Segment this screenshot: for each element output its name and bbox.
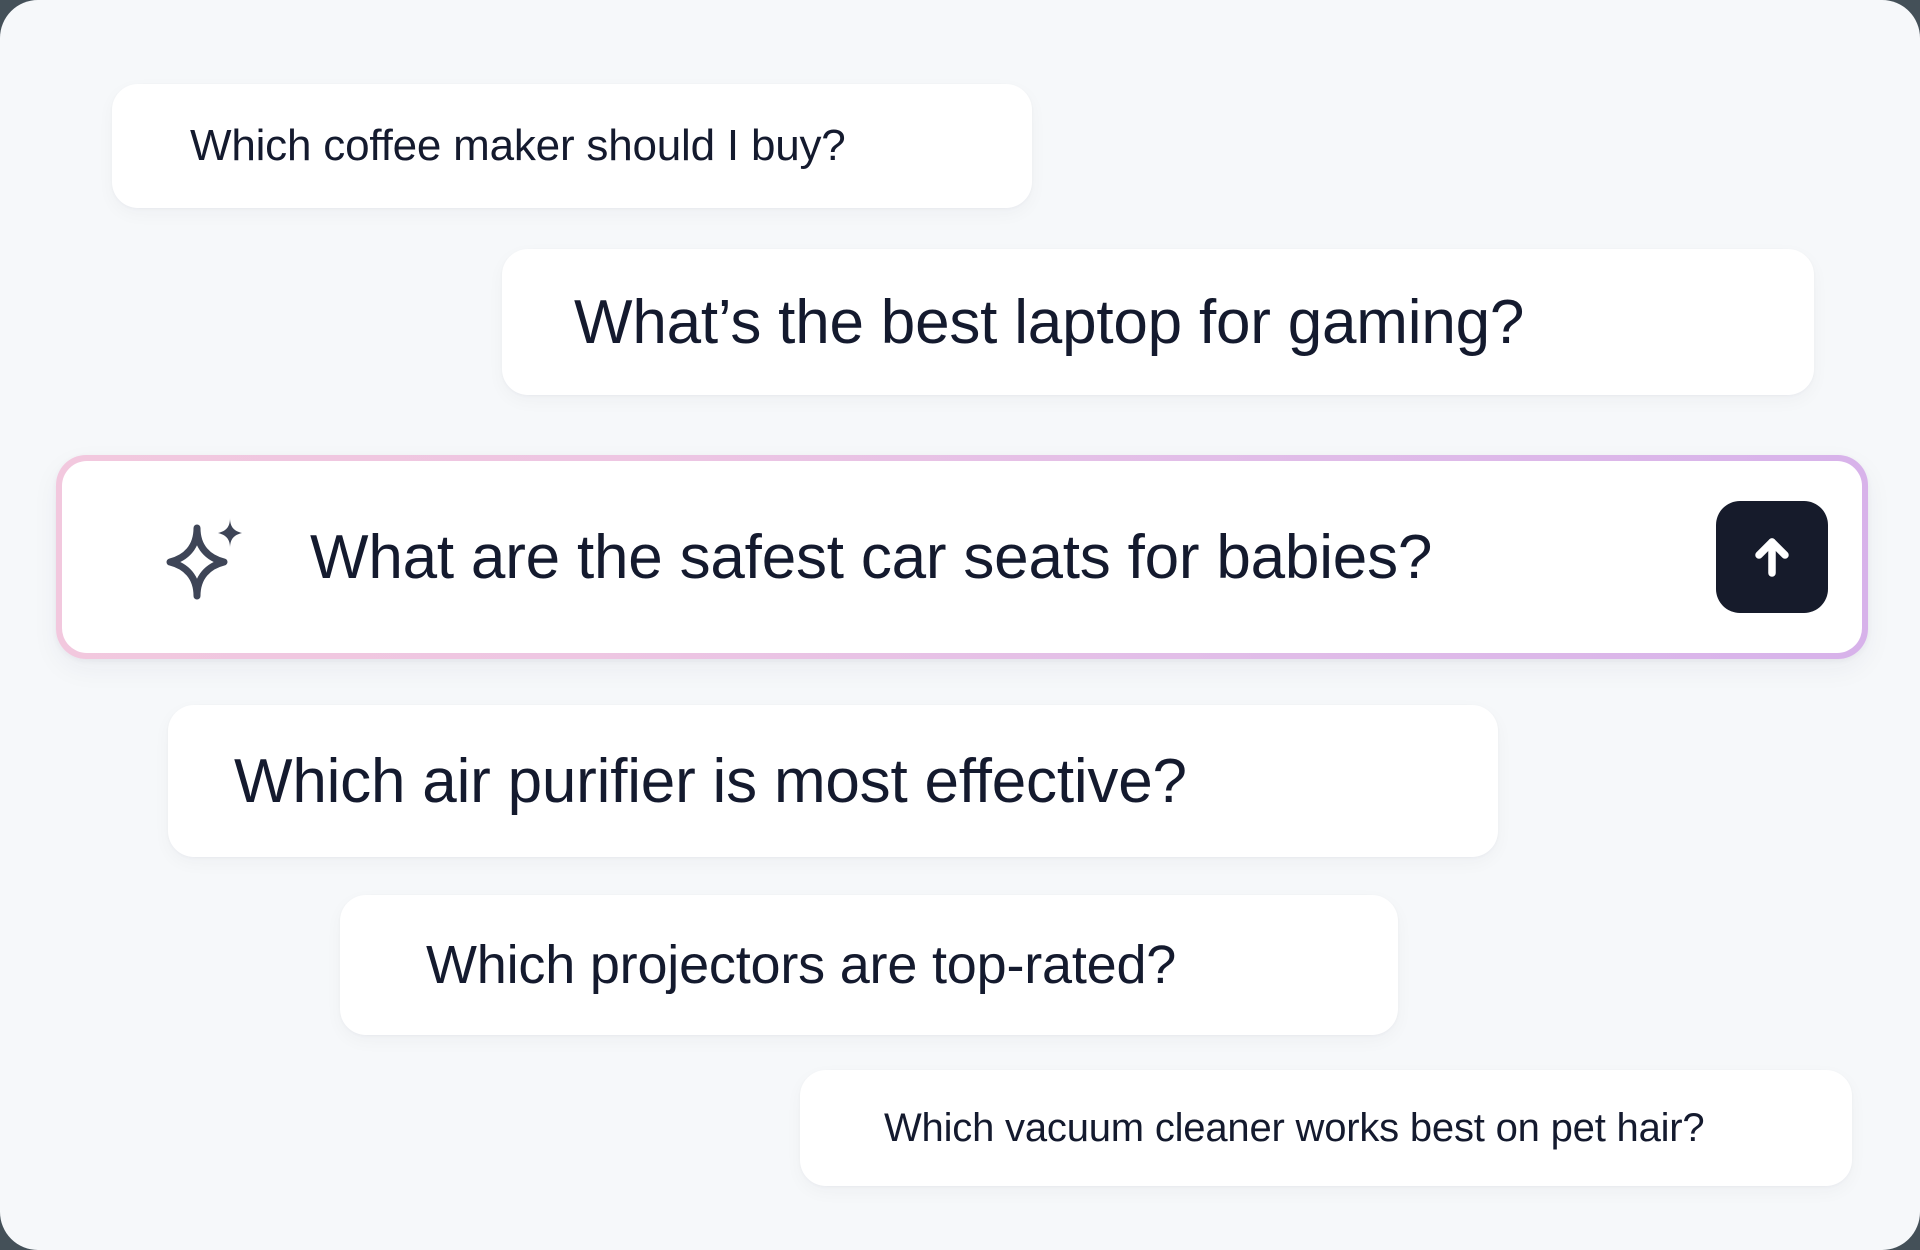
suggestion-list: Which coffee maker should I buy? What’s … [0,0,1920,1250]
suggestion-card-projectors[interactable]: Which projectors are top-rated? [340,895,1398,1035]
submit-button[interactable] [1716,501,1828,613]
suggestion-label: Which projectors are top-rated? [426,934,1176,996]
suggestion-label: Which air purifier is most effective? [234,746,1187,817]
suggestion-card-gaming-laptop[interactable]: What’s the best laptop for gaming? [502,249,1814,395]
suggestion-card-car-seats-active[interactable]: What are the safest car seats for babies… [62,461,1862,653]
arrow-up-icon [1745,530,1799,584]
suggestion-card-vacuum-cleaner[interactable]: Which vacuum cleaner works best on pet h… [800,1070,1852,1186]
active-suggestion-label: What are the safest car seats for babies… [310,522,1716,593]
suggestion-label: What’s the best laptop for gaming? [574,287,1524,358]
suggestion-label: Which coffee maker should I buy? [190,121,846,171]
suggestion-card-air-purifier[interactable]: Which air purifier is most effective? [168,705,1498,857]
suggestion-panel: Which coffee maker should I buy? What’s … [0,0,1920,1250]
suggestion-card-coffee-maker[interactable]: Which coffee maker should I buy? [112,84,1032,208]
suggestion-label: Which vacuum cleaner works best on pet h… [884,1106,1704,1151]
active-suggestion-card-border: What are the safest car seats for babies… [56,455,1868,659]
sparkle-icon [162,514,248,600]
